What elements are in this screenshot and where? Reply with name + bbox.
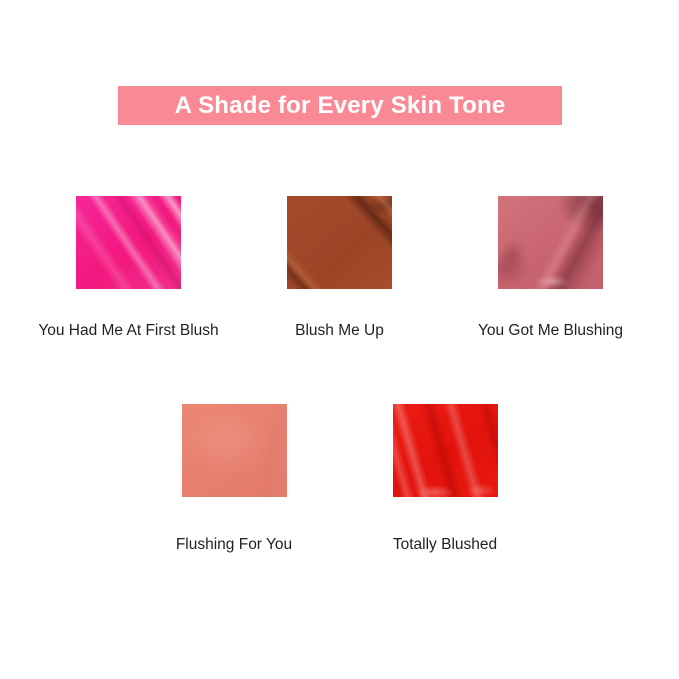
page-title: A Shade for Every Skin Tone — [175, 94, 506, 118]
shade-label-you-got-me-blushing: You Got Me Blushing — [478, 323, 623, 339]
shade-label-blush-me-up: Blush Me Up — [295, 323, 384, 339]
shade-swatch-blush-me-up[interactable] — [287, 196, 392, 289]
shade-label-totally-blushed: Totally Blushed — [393, 537, 497, 553]
shade-card-totally-blushed[interactable]: Totally Blushed — [340, 404, 551, 553]
shade-row-top: You Had Me At First Blush Blush Me Up Yo… — [0, 196, 679, 339]
shade-label-you-had-me-at-first-blush: You Had Me At First Blush — [38, 323, 218, 339]
swatch-sheen-overlay — [287, 196, 392, 289]
swatch-sheen-overlay — [498, 196, 603, 289]
swatch-sheen-overlay — [182, 404, 287, 497]
shade-chart-page: A Shade for Every Skin Tone You Had Me A… — [0, 0, 679, 679]
banner: A Shade for Every Skin Tone — [118, 86, 562, 125]
shade-swatch-you-had-me-at-first-blush[interactable] — [76, 196, 181, 289]
swatch-sheen-overlay — [76, 196, 181, 289]
shade-card-you-had-me-at-first-blush[interactable]: You Had Me At First Blush — [23, 196, 234, 339]
swatch-sheen-overlay — [393, 404, 498, 497]
shade-card-you-got-me-blushing[interactable]: You Got Me Blushing — [445, 196, 656, 339]
shade-card-flushing-for-you[interactable]: Flushing For You — [129, 404, 340, 553]
shade-swatch-you-got-me-blushing[interactable] — [498, 196, 603, 289]
shade-card-blush-me-up[interactable]: Blush Me Up — [234, 196, 445, 339]
shade-swatch-totally-blushed[interactable] — [393, 404, 498, 497]
shade-label-flushing-for-you: Flushing For You — [176, 537, 292, 553]
shade-row-bottom: Flushing For You Totally Blushed — [0, 404, 679, 553]
shade-swatch-flushing-for-you[interactable] — [182, 404, 287, 497]
